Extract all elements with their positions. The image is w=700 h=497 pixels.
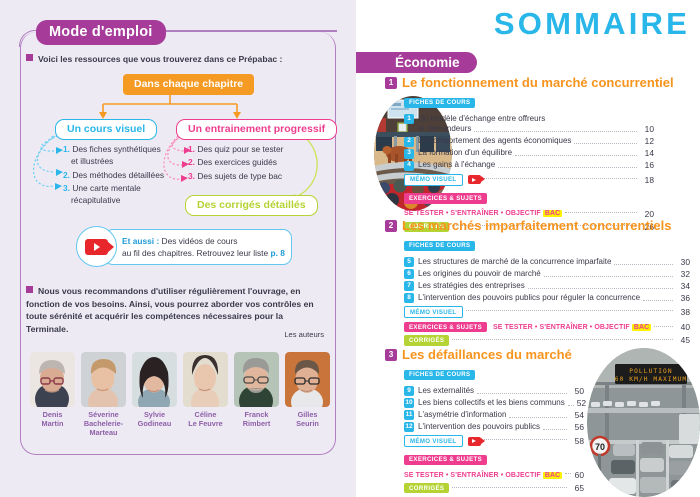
page-number: 30	[676, 257, 690, 268]
section-1: 1 Le fonctionnement du marché concurrent…	[356, 75, 700, 232]
avatar	[183, 352, 228, 407]
author-card: GillesSeurin	[285, 352, 330, 437]
chapter-number-badge: 5	[404, 257, 414, 267]
section-header[interactable]: 3 Les défaillances du marché	[385, 347, 700, 362]
list-cours-visuel: 1. Des fiches synthétiques et illustrées…	[63, 143, 168, 207]
badge-corriges: CORRIGÉS	[404, 335, 449, 345]
list-item: 3. Une carte mentale récapitulative	[63, 182, 168, 207]
toc-row[interactable]: 2 Le comportement des agents économiques…	[404, 136, 654, 147]
node-un-entrainement-progressif: Un entrainement progressif	[176, 119, 337, 140]
node-des-corriges-detailles: Des corrigés détaillés	[185, 195, 318, 216]
dot-leader	[452, 487, 567, 488]
section-title: Le fonctionnement du marché concurrentie…	[402, 75, 674, 90]
toc-row[interactable]: 11 L'asymétrie d'information 54	[404, 410, 584, 421]
page-number: 56	[570, 422, 584, 433]
video-icon-circle	[76, 226, 117, 267]
author-name: DenisMartin	[30, 410, 75, 428]
dot-leader	[509, 417, 567, 418]
node-un-cours-visuel: Un cours visuel	[55, 119, 157, 140]
node-dans-chaque-chapitre: Dans chaque chapitre	[123, 74, 254, 95]
author-name: CélineLe Feuvre	[183, 410, 228, 428]
list-item: 2. Des méthodes détaillées	[63, 169, 168, 181]
mode-emploi-panel: Mode d'emploi Voici les ressources que v…	[0, 0, 356, 497]
list-entrainement-progressif: 1. Des quiz pour se tester 2. Des exerci…	[188, 143, 310, 183]
page-number: 52	[577, 398, 586, 409]
chapter-number-badge: 11	[404, 410, 414, 420]
avatar	[234, 352, 279, 407]
chapter-number-badge: 9	[404, 386, 414, 396]
dot-leader	[515, 155, 637, 156]
dot-leader	[568, 405, 574, 406]
toc-row[interactable]: 8 L'intervention des pouvoirs publics po…	[404, 293, 690, 304]
subject-banner-extension	[356, 52, 386, 73]
section-number-badge: 2	[385, 220, 397, 232]
avatar	[285, 352, 330, 407]
page-number: 18	[640, 175, 654, 185]
page-number: 38	[676, 307, 690, 317]
toc-row-memo[interactable]: MÉMO VISUEL 38	[404, 306, 690, 318]
badge-memo-visuel: MÉMO VISUEL	[404, 306, 463, 318]
author-card: FranckRimbert	[234, 352, 279, 437]
badge-memo-visuel: MÉMO VISUEL	[404, 174, 463, 186]
chapter-number-badge: 1	[404, 114, 414, 124]
badge-bac: BAC	[543, 210, 562, 217]
toc-row[interactable]: 6 Les origines du pouvoir de marché 32	[404, 269, 690, 280]
bullet-square-icon	[26, 286, 33, 293]
page-number: 65	[570, 483, 584, 493]
section-2: 2 Les marchés imparfaitement concurrenti…	[356, 218, 700, 346]
authors-label: Les auteurs	[284, 330, 324, 339]
video-list-page-link[interactable]: p. 8	[271, 248, 285, 258]
badge-fiches-de-cours: FICHES DE COURS	[404, 241, 475, 251]
video-camera-icon	[85, 239, 108, 255]
page-number: 34	[676, 281, 690, 292]
section-header[interactable]: 1 Le fonctionnement du marché concurrent…	[385, 75, 700, 90]
page-number: 12	[640, 136, 654, 147]
badge-corriges: CORRIGÉS	[404, 483, 449, 493]
page-title-mode-emploi: Mode d'emploi	[36, 20, 166, 45]
avatar	[30, 352, 75, 407]
dot-leader	[452, 339, 673, 340]
dot-leader	[543, 429, 567, 430]
page-number: 58	[570, 436, 584, 446]
author-name: FranckRimbert	[234, 410, 279, 428]
section-rows: FICHES DE COURS 9 Les externalités 50 10…	[404, 366, 584, 493]
dot-leader	[544, 276, 673, 277]
subject-banner-economie: Économie	[385, 52, 477, 73]
chapter-number-badge: 7	[404, 281, 414, 291]
recommendation-text: Nous vous recommandons d'utiliser réguli…	[26, 285, 326, 335]
author-name: SylvieGodineau	[132, 410, 177, 428]
dot-leader	[574, 143, 637, 144]
section-title: Les marchés imparfaitement concurrentiel…	[402, 218, 672, 233]
section-title: Les défaillances du marché	[402, 347, 572, 362]
author-card: DenisMartin	[30, 352, 75, 437]
dot-leader	[565, 212, 637, 213]
list-item: 3. Des sujets de type bac	[188, 170, 310, 182]
chapter-number-badge: 4	[404, 161, 414, 171]
avatar	[81, 352, 126, 407]
toc-row-exercices[interactable]: EXERCICES & SUJETS SE TESTER • S'ENTRAÎN…	[404, 322, 690, 332]
toc-row[interactable]: 9 Les externalités 50	[404, 386, 584, 397]
author-card: CélineLe Feuvre	[183, 352, 228, 437]
page-number: 10	[640, 124, 654, 135]
toc-row-memo[interactable]: MÉMO VISUEL 58	[404, 435, 584, 447]
page-number: 32	[676, 269, 690, 280]
page-number: 36	[676, 293, 690, 304]
badge-bac: BAC	[543, 472, 562, 479]
page-title: SOMMAIRE	[494, 6, 690, 42]
badge-exercices-sujets: EXERCICES & SUJETS	[404, 322, 487, 332]
toc-row[interactable]: 7 Les stratégies des entreprises 34	[404, 281, 690, 292]
dot-leader	[565, 473, 571, 474]
exercices-block: EXERCICES & SUJETS SE TESTER • S'ENTRAÎN…	[404, 451, 584, 480]
exercices-block: EXERCICES & SUJETS SE TESTER • S'ENTRAÎN…	[404, 190, 654, 219]
toc-row-exercices[interactable]: SE TESTER • S'ENTRAÎNER • OBJECTIF BAC 6…	[404, 470, 584, 480]
list-item: 2. Des exercices guidés	[188, 156, 310, 168]
sommaire-panel: SOMMAIRE Économie	[356, 0, 700, 497]
toc-row[interactable]: 3 La formation d'un équilibre 14	[404, 148, 654, 159]
page-number: 16	[640, 160, 654, 171]
page-number: 60	[574, 470, 584, 480]
page-number: 14	[640, 148, 654, 159]
chapter-number-badge: 10	[404, 398, 414, 408]
badge-fiches-de-cours: FICHES DE COURS	[404, 370, 475, 380]
dot-leader	[484, 178, 637, 179]
page-number: 50	[570, 386, 584, 397]
toc-row[interactable]: 5 Les structures de marché de la concurr…	[404, 257, 690, 268]
section-number-badge: 1	[385, 77, 397, 89]
chapter-number-badge: 8	[404, 293, 414, 303]
toc-row[interactable]: 1 Un modèle d'échange entre offreurs et …	[404, 114, 654, 135]
toc-row[interactable]: 12 L'intervention des pouvoirs publics 5…	[404, 422, 584, 433]
chapter-number-badge: 2	[404, 137, 414, 147]
author-name: SéverineBachelerie-Marteau	[81, 410, 126, 437]
badge-exercices-sujets: EXERCICES & SUJETS	[404, 455, 487, 465]
section-rows: FICHES DE COURS 1 Un modèle d'échange en…	[404, 94, 654, 232]
dot-leader	[614, 264, 673, 265]
author-card: SéverineBachelerie-Marteau	[81, 352, 126, 437]
chapter-number-badge: 3	[404, 149, 414, 159]
list-item: 1. Des fiches synthétiques et illustrées	[63, 143, 168, 168]
author-name: GillesSeurin	[285, 410, 330, 428]
badge-memo-visuel: MÉMO VISUEL	[404, 435, 463, 447]
video-icon	[468, 175, 481, 184]
page-number: 45	[676, 335, 690, 345]
toc-row-memo[interactable]: MÉMO VISUEL 18	[404, 174, 654, 186]
dot-leader	[484, 439, 567, 440]
chapter-number-badge: 12	[404, 422, 414, 432]
dot-leader	[466, 310, 673, 311]
toc-row-corriges[interactable]: CORRIGÉS 65	[404, 483, 584, 493]
page-number: 54	[570, 410, 584, 421]
badge-exercices-sujets: EXERCICES & SUJETS	[404, 193, 487, 203]
avatar	[132, 352, 177, 407]
dot-leader	[498, 167, 637, 168]
section-number-badge: 3	[385, 349, 397, 361]
author-card: SylvieGodineau	[132, 352, 177, 437]
dot-leader	[474, 131, 637, 132]
section-header[interactable]: 2 Les marchés imparfaitement concurrenti…	[385, 218, 700, 233]
dot-leader	[654, 326, 673, 327]
badge-fiches-de-cours: FICHES DE COURS	[404, 98, 475, 108]
toc-row[interactable]: 10 Les biens collectifs et les biens com…	[404, 398, 584, 409]
video-callout-text: Et aussi : Des vidéos de cours au fil de…	[122, 235, 292, 259]
badge-bac: BAC	[632, 324, 651, 331]
section-3: 3 Les défaillances du marché FICHES DE C…	[356, 347, 700, 493]
dot-leader	[477, 393, 567, 394]
section-rows: FICHES DE COURS 5 Les structures de marc…	[404, 237, 690, 346]
dot-leader	[643, 300, 673, 301]
dot-leader	[528, 288, 673, 289]
toc-row-corriges[interactable]: CORRIGÉS 45	[404, 335, 690, 345]
list-item: 1. Des quiz pour se tester	[188, 143, 310, 155]
toc-row[interactable]: 4 Les gains à l'échange 16	[404, 160, 654, 171]
chapter-number-badge: 6	[404, 269, 414, 279]
authors-list: DenisMartin SéverineBachelerie-Marteau S…	[30, 352, 330, 437]
video-icon	[468, 437, 481, 446]
page-number: 40	[676, 322, 690, 332]
